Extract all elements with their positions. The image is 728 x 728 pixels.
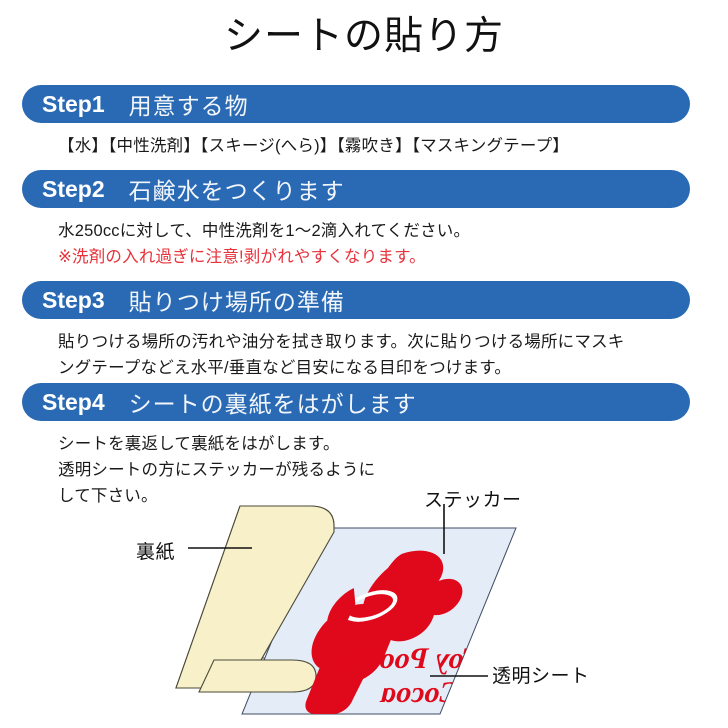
diagram-label-backing-paper: 裏紙 [136,541,175,565]
step-title-2: 石鹸水をつくります [129,172,345,206]
step-body-1: 【水】【中性洗剤】【スキージ(へら)】【霧吹き】【マスキングテープ】 [58,133,678,159]
step-title-4: シートの裏紙をはがします [129,385,417,419]
step-bar-3: Step3 貼りつけ場所の準備 [22,281,690,319]
step-bar-4: Step4 シートの裏紙をはがします [22,383,690,421]
page-title: シートの貼り方 [0,8,728,66]
step-title-3: 貼りつけ場所の準備 [129,283,345,317]
step-number-2: Step2 [42,176,105,203]
sticker-text-line-2: Cocoa [375,675,467,709]
sheet-peel-diagram: Toy Poodle Cocoa [0,470,728,728]
step-3-line-2: ングテープなどえ水平/垂直など目安になる目印をつけます。 [58,355,670,381]
step-body-2: 水250ccに対して、中性洗剤を1〜2滴入れてください。 ※洗剤の入れ過ぎに注意… [58,218,658,270]
diagram-label-clear-sheet: 透明シート [492,665,590,689]
step-3-line-1: 貼りつける場所の汚れや油分を拭き取ります。次に貼りつける場所にマスキ [58,329,670,355]
step-bar-2: Step2 石鹸水をつくります [22,170,690,208]
step-title-1: 用意する物 [129,87,249,121]
step-number-3: Step3 [42,287,105,314]
step-4-line-1: シートを裏返して裏紙をはがします。 [58,431,658,457]
step-body-3: 貼りつける場所の汚れや油分を拭き取ります。次に貼りつける場所にマスキ ングテープ… [58,329,670,381]
step-2-warning: ※洗剤の入れ過ぎに注意!剥がれやすくなります。 [58,244,658,270]
step-bar-1: Step1 用意する物 [22,85,690,123]
diagram-label-sticker: ステッカー [424,489,522,513]
step-number-4: Step4 [42,389,105,416]
sticker-text-line-1: Toy Poodle [337,641,487,675]
step-2-line-1: 水250ccに対して、中性洗剤を1〜2滴入れてください。 [58,218,658,244]
step-number-1: Step1 [42,91,105,118]
step-1-line-1: 【水】【中性洗剤】【スキージ(へら)】【霧吹き】【マスキングテープ】 [58,133,678,159]
